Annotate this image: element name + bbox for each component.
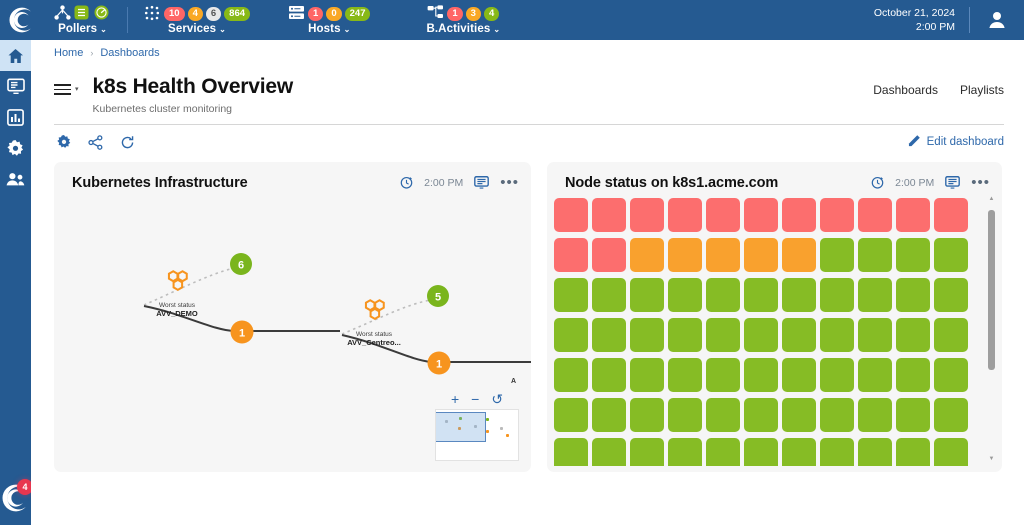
centreon-logo-icon[interactable]: [0, 7, 44, 33]
node-status-cell[interactable]: [630, 238, 664, 272]
pollers-icon: [54, 5, 71, 22]
node-status-cell[interactable]: [858, 238, 892, 272]
node-status-cell[interactable]: [820, 278, 854, 312]
tab-dashboards[interactable]: Dashboards: [873, 83, 938, 97]
node-status-cell[interactable]: [630, 278, 664, 312]
breadcrumb-dashboards[interactable]: Dashboards: [100, 47, 159, 59]
node-status-grid-wrapper: ▲ ▼: [547, 192, 1002, 466]
scroll-down-arrow[interactable]: ▼: [988, 456, 995, 462]
chevron-down-icon: ⌄: [493, 26, 500, 34]
map-minimap[interactable]: [435, 409, 519, 461]
ba-critical-badge[interactable]: 1: [447, 7, 462, 21]
node-status-cell[interactable]: [592, 238, 626, 272]
node-status-cell[interactable]: [706, 278, 740, 312]
clock-refresh-icon[interactable]: [400, 176, 413, 189]
node-status-cell[interactable]: [744, 198, 778, 232]
edit-dashboard-button[interactable]: Edit dashboard: [908, 134, 1004, 150]
page-subtitle: Kubernetes cluster monitoring: [93, 103, 293, 115]
page-title: k8s Health Overview: [93, 75, 293, 99]
node-status-cell[interactable]: [706, 438, 740, 466]
pencil-icon: [908, 134, 921, 150]
nav-business-activities[interactable]: 1 3 4 B.Activities ⌄: [416, 0, 510, 40]
services-ok-badge[interactable]: 864: [224, 7, 250, 21]
node-status-cell[interactable]: [858, 278, 892, 312]
node-status-cell[interactable]: [934, 278, 968, 312]
refresh-icon[interactable]: [120, 135, 135, 150]
node-status-cell[interactable]: [668, 438, 702, 466]
node-status-cell[interactable]: [554, 358, 588, 392]
gear-icon[interactable]: [57, 135, 71, 149]
nav-services[interactable]: 10 4 6 864 Services ⌄: [134, 0, 260, 40]
node-status-cell[interactable]: [668, 358, 702, 392]
svg-text:6: 6: [238, 260, 244, 272]
hosts-unreachable-badge[interactable]: 0: [326, 7, 341, 21]
left-sidebar-rail: 4: [0, 40, 31, 525]
node-status-cell[interactable]: [630, 398, 664, 432]
node-status-cell[interactable]: [744, 438, 778, 466]
services-critical-badge[interactable]: 10: [164, 7, 185, 21]
zoom-out-button[interactable]: −: [471, 393, 479, 405]
title-block: k8s Health Overview Kubernetes cluster m…: [93, 75, 293, 115]
services-dots-icon: [144, 5, 161, 22]
node-status-cell[interactable]: [668, 398, 702, 432]
map-controls: + − ↺: [435, 390, 519, 461]
ba-ok-badge[interactable]: 4: [484, 7, 499, 21]
node-status-cell[interactable]: [668, 238, 702, 272]
node-status-cell[interactable]: [934, 358, 968, 392]
node-status-cell[interactable]: [706, 318, 740, 352]
hosts-up-badge[interactable]: 247: [345, 7, 371, 21]
zoom-in-button[interactable]: +: [451, 393, 459, 405]
node-status-cell[interactable]: [554, 238, 588, 272]
nav-pollers[interactable]: Pollers ⌄: [44, 0, 121, 40]
node-status-cell[interactable]: [554, 398, 588, 432]
node-status-cell[interactable]: [592, 318, 626, 352]
node-status-cell[interactable]: [592, 438, 626, 466]
breadcrumb: Home › Dashboards: [31, 40, 1024, 65]
widget-header: Node status on k8s1.acme.com 2:00 PM: [547, 162, 1002, 192]
gauge-green-icon: [94, 5, 111, 22]
current-time: 2:00 PM: [874, 20, 955, 34]
node-status-cell[interactable]: [668, 198, 702, 232]
node-status-cell[interactable]: [858, 398, 892, 432]
node-status-cell[interactable]: [896, 278, 930, 312]
dashboard-toolbar: Edit dashboard: [31, 125, 1024, 150]
node-status-cell[interactable]: [782, 198, 816, 232]
node-status-cell[interactable]: [554, 278, 588, 312]
node-name: AVV_Centreo...: [347, 338, 401, 347]
grid-scrollbar[interactable]: ▲ ▼: [988, 198, 995, 460]
svg-text:1: 1: [239, 328, 245, 340]
node-status-cell[interactable]: [896, 318, 930, 352]
node-status-cell[interactable]: [744, 318, 778, 352]
node-status-cell[interactable]: [858, 198, 892, 232]
widget-title: Kubernetes Infrastructure: [72, 175, 248, 191]
node-status-cell[interactable]: [782, 358, 816, 392]
scroll-up-arrow[interactable]: ▲: [988, 196, 995, 202]
clock-refresh-icon[interactable]: [871, 176, 884, 189]
node-status-cell[interactable]: [554, 318, 588, 352]
node-status-cell[interactable]: [592, 198, 626, 232]
sidebar-centreon-logo[interactable]: 4: [0, 471, 31, 525]
svg-text:5: 5: [435, 292, 441, 304]
note-icon[interactable]: [474, 176, 489, 189]
page-tabs: Dashboards Playlists: [873, 75, 1004, 97]
node-label-avv-centreon: Worst status AVV_Centreo...: [329, 331, 419, 348]
node-status-cell[interactable]: [820, 358, 854, 392]
chevron-down-icon: ⌄: [100, 26, 107, 34]
nav-hosts[interactable]: 1 0 247 Hosts ⌄: [278, 0, 380, 40]
widget-title: Node status on k8s1.acme.com: [565, 175, 778, 191]
sidebar-item-home[interactable]: [0, 40, 31, 71]
node-status-cell[interactable]: [934, 198, 968, 232]
node-status-cell[interactable]: [820, 438, 854, 466]
widget-tools: 2:00 PM •••: [871, 176, 990, 189]
node-status-cell[interactable]: [782, 278, 816, 312]
node-label-avv-demo: Worst status AVV_DEMO: [132, 302, 222, 319]
datetime-display: October 21, 2024 2:00 PM: [874, 6, 969, 34]
node-name: AVV_DEMO: [156, 309, 198, 318]
node-status-cell[interactable]: [668, 278, 702, 312]
node-status-grid: [552, 195, 980, 466]
user-avatar-icon[interactable]: [970, 0, 1024, 40]
edge-marker-label: A: [511, 378, 516, 385]
widget-node-status: Node status on k8s1.acme.com 2:00 PM: [547, 162, 1002, 472]
minimap-viewport[interactable]: [435, 412, 486, 442]
node-status-cell[interactable]: [744, 238, 778, 272]
svg-text:1: 1: [436, 359, 442, 371]
current-date: October 21, 2024: [874, 6, 955, 20]
node-status-cell[interactable]: [592, 358, 626, 392]
node-status-cell[interactable]: [820, 398, 854, 432]
node-status-cell[interactable]: [896, 198, 930, 232]
node-status-cell[interactable]: [934, 318, 968, 352]
app-root: Pollers ⌄ 10 4 6: [0, 0, 1024, 525]
breadcrumb-separator: ›: [90, 48, 93, 58]
node-status-cell[interactable]: [858, 318, 892, 352]
sidebar-item-monitoring[interactable]: [0, 71, 31, 102]
database-green-icon: [74, 5, 91, 22]
note-icon[interactable]: [945, 176, 960, 189]
more-options-icon[interactable]: •••: [971, 179, 990, 187]
nav-divider: [127, 7, 128, 33]
widget-refresh-time: 2:00 PM: [895, 177, 934, 189]
widget-header: Kubernetes Infrastructure 2:00 PM: [54, 162, 531, 192]
page-header: ▾ k8s Health Overview Kubernetes cluster…: [31, 65, 1024, 115]
node-status-cell[interactable]: [668, 318, 702, 352]
sidebar-item-administration[interactable]: [0, 164, 31, 195]
edit-dashboard-label: Edit dashboard: [927, 136, 1004, 148]
node-status-cell[interactable]: [896, 438, 930, 466]
node-status-cell[interactable]: [630, 358, 664, 392]
hosts-down-badge[interactable]: 1: [308, 7, 323, 21]
ba-warning-badge[interactable]: 3: [466, 7, 481, 21]
node-status-cell[interactable]: [782, 238, 816, 272]
node-status-cell[interactable]: [630, 318, 664, 352]
reset-view-button[interactable]: ↺: [491, 393, 503, 405]
node-status-cell[interactable]: [630, 198, 664, 232]
node-status-cell[interactable]: [858, 358, 892, 392]
breadcrumb-home[interactable]: Home: [54, 47, 83, 59]
node-status-cell[interactable]: [592, 278, 626, 312]
widgets-area: Kubernetes Infrastructure 2:00 PM: [31, 150, 1024, 472]
nav-business-activities-label: B.Activities: [426, 23, 490, 35]
services-unknown-badge[interactable]: 6: [206, 7, 221, 21]
node-status-cell[interactable]: [706, 238, 740, 272]
node-status-cell[interactable]: [896, 398, 930, 432]
node-status-cell[interactable]: [630, 438, 664, 466]
node-status-cell[interactable]: [554, 438, 588, 466]
chevron-down-icon: ⌄: [219, 26, 226, 34]
business-activities-icon: [427, 5, 444, 22]
node-status-cell[interactable]: [896, 238, 930, 272]
more-options-icon[interactable]: •••: [500, 179, 519, 187]
nav-hosts-label: Hosts: [308, 23, 340, 35]
node-status-cell[interactable]: [820, 198, 854, 232]
node-status-cell[interactable]: [744, 398, 778, 432]
node-status-cell[interactable]: [820, 238, 854, 272]
nav-pollers-label: Pollers: [58, 23, 97, 35]
node-status-cell[interactable]: [554, 198, 588, 232]
scrollbar-track[interactable]: [988, 204, 995, 454]
node-status-cell[interactable]: [744, 278, 778, 312]
node-status-cell[interactable]: [934, 238, 968, 272]
nav-services-label: Services: [168, 23, 216, 35]
network-map[interactable]: 6 1 5 1 A Worst status AVV_DEMO Worst st…: [54, 192, 531, 467]
sidebar-item-reporting[interactable]: [0, 102, 31, 133]
widget-tools: 2:00 PM •••: [400, 176, 519, 189]
node-status-cell[interactable]: [896, 358, 930, 392]
top-navigation-bar: Pollers ⌄ 10 4 6: [0, 0, 1024, 40]
node-status-cell[interactable]: [782, 438, 816, 466]
chevron-down-icon: ▾: [75, 85, 79, 93]
hamburger-menu-icon[interactable]: ▾: [54, 84, 79, 95]
widget-refresh-time: 2:00 PM: [424, 177, 463, 189]
node-status-cell[interactable]: [706, 198, 740, 232]
node-status-cell[interactable]: [820, 318, 854, 352]
scrollbar-thumb[interactable]: [988, 210, 995, 370]
share-icon[interactable]: [88, 135, 103, 150]
node-status-cell[interactable]: [706, 358, 740, 392]
node-status-cell[interactable]: [934, 438, 968, 466]
node-status-cell[interactable]: [782, 398, 816, 432]
topbar-right-section: October 21, 2024 2:00 PM: [874, 0, 1024, 40]
node-status-cell[interactable]: [782, 318, 816, 352]
widget-kubernetes-infrastructure: Kubernetes Infrastructure 2:00 PM: [54, 162, 531, 472]
sidebar-item-configuration[interactable]: [0, 133, 31, 164]
chevron-down-icon: ⌄: [344, 26, 351, 34]
node-status-cell[interactable]: [592, 398, 626, 432]
node-status-cell[interactable]: [744, 358, 778, 392]
node-status-cell[interactable]: [858, 438, 892, 466]
node-status-cell[interactable]: [934, 398, 968, 432]
services-warning-badge[interactable]: 4: [188, 7, 203, 21]
node-status-cell[interactable]: [706, 398, 740, 432]
server-icon: [288, 5, 305, 22]
main-content: Home › Dashboards ▾ k8s Health Overview …: [31, 40, 1024, 525]
tab-playlists[interactable]: Playlists: [960, 83, 1004, 97]
